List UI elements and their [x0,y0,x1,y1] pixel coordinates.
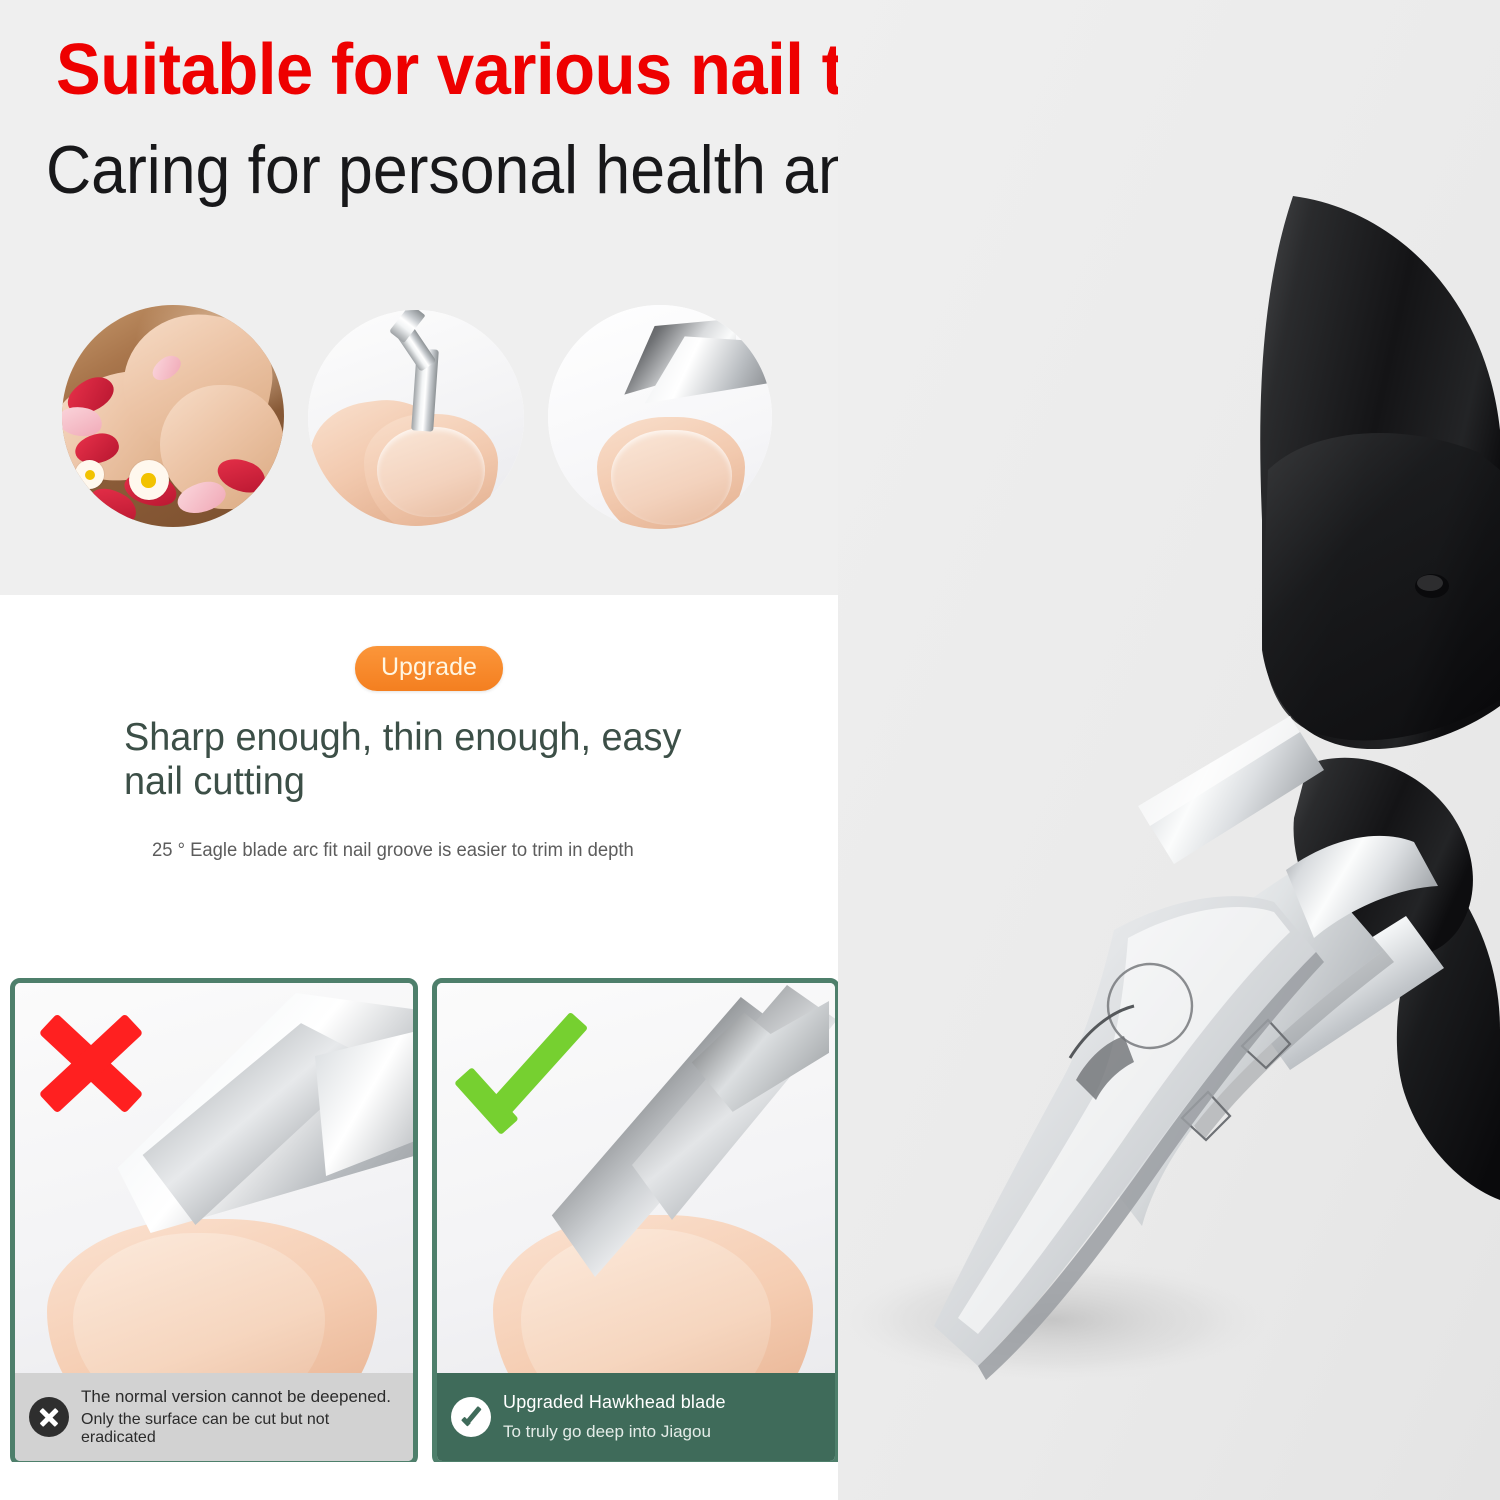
upgrade-badge: Upgrade [355,646,503,691]
comparison-card-upgraded: Upgraded Hawkhead blade To truly go deep… [432,978,840,1466]
cross-icon [29,1397,69,1437]
normal-caption-line1: The normal version cannot be deepened. [81,1387,403,1406]
normal-version-caption: The normal version cannot be deepened. O… [15,1373,413,1461]
product-infographic: Suitable for various nail types Caring f… [0,0,1500,1500]
red-x-mark-icon [35,1007,147,1119]
hawkhead-blade-photo [437,983,835,1373]
foot-spa-photo [62,305,284,527]
upgraded-caption-line1: Upgraded Hawkhead blade [503,1392,825,1412]
bottom-white-strip [0,1462,838,1500]
feature-subtitle: 25 ° Eagle blade arc fit nail groove is … [152,840,634,862]
trimming-thick-nail-photo [548,305,772,529]
green-check-mark-icon [455,1005,605,1125]
upgraded-version-caption: Upgraded Hawkhead blade To truly go deep… [437,1373,835,1461]
comparison-card-normal: The normal version cannot be deepened. O… [10,978,418,1466]
nail-clipper-product-photo [838,0,1500,1500]
check-icon [451,1397,491,1437]
feature-title: Sharp enough, thin enough, easy nail cut… [124,716,745,803]
clipper-on-toenail-photo [308,310,524,526]
normal-caption-line2: Only the surface can be cut but not erad… [81,1411,403,1447]
normal-clipper-photo [15,983,413,1373]
upgraded-caption-line2: To truly go deep into Jiagou [503,1422,825,1441]
